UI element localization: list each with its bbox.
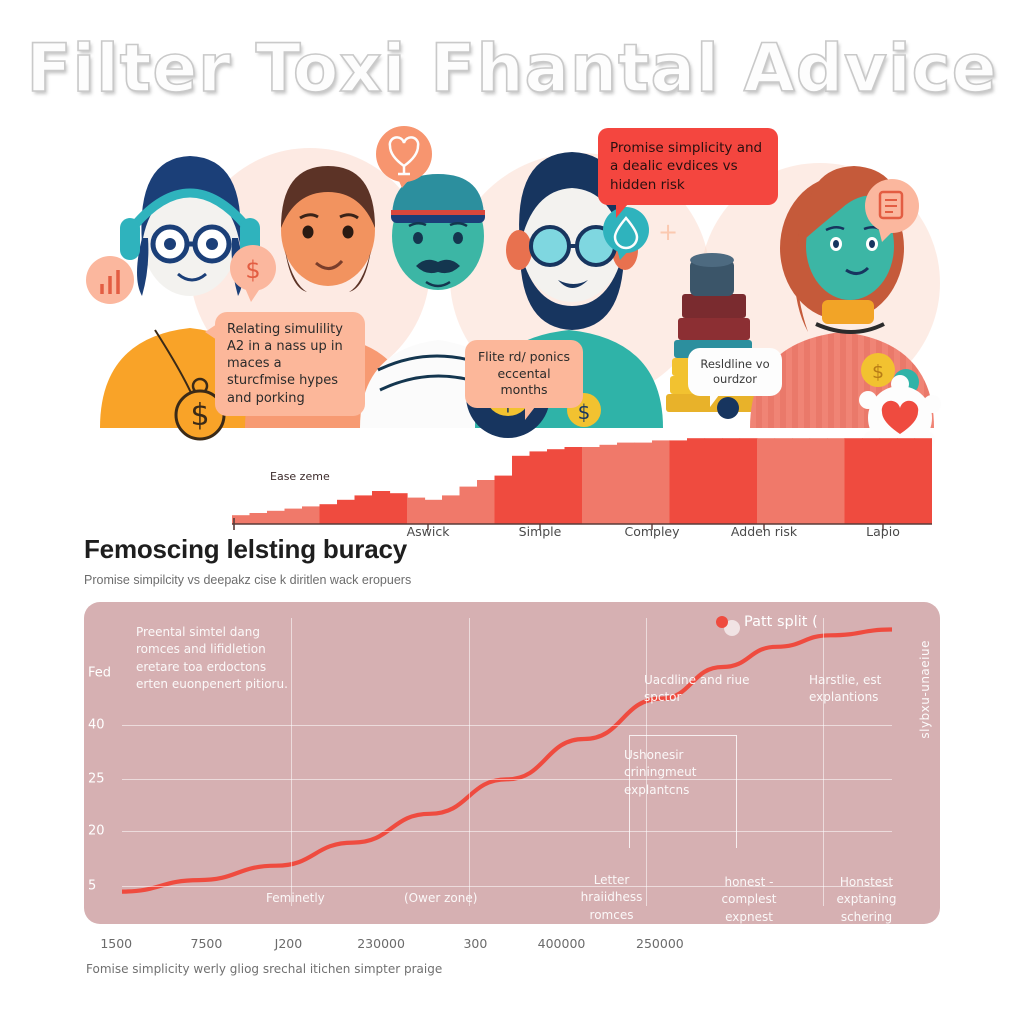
footer-caption: Fomise simplicity werly gliog srechal it…	[86, 962, 442, 976]
annotation-letter: Letter hraiidhess romces	[564, 872, 659, 924]
annotation-bracket-left	[629, 735, 737, 848]
annotation-ower-zone: (Ower zone)	[404, 890, 477, 907]
endpoint-marker	[716, 616, 728, 628]
endpoint-label: Patt split (	[744, 614, 818, 630]
svg-text:$: $	[872, 361, 884, 383]
speech-bubble-peach-mid: Flite rd/ ponics eccental months	[465, 340, 583, 408]
x-axis-tick-row: 15007500J200230000300400000250000	[0, 936, 1024, 956]
y-axis-tick-label: 25	[88, 772, 105, 787]
speech-bubble-peach-left: Relating simulility A2 in a nass up in m…	[215, 312, 365, 416]
annotation-honstest: Honstest exptaning schering	[814, 874, 919, 924]
section-subtitle: Promise simpilcity vs deepakz cise k dir…	[84, 573, 784, 587]
speech-bubble-white: Resldline vo ourdzor	[688, 348, 782, 396]
gridline-horizontal	[122, 725, 892, 726]
y-axis-tick-label: 40	[88, 717, 105, 732]
y-axis-tick-label: Fed	[88, 665, 111, 680]
bar-chart: Ease zeme AswickSimpleCompleyAdden riskL…	[232, 432, 932, 542]
speech-bubble-red: Promise simplicity and a dealic evdices …	[598, 128, 778, 205]
y-axis-tick-label: 20	[88, 824, 105, 839]
annotation-feminetly: Feminetly	[266, 890, 325, 907]
bar-chart-icon-bubble	[86, 256, 134, 304]
section-header: Femoscing lelsting buracy Promise simpil…	[84, 534, 784, 587]
x-axis-tick-label: 250000	[636, 936, 684, 951]
x-axis-tick-label: 1500	[100, 936, 132, 951]
x-axis-tick-label: 7500	[191, 936, 223, 951]
page-title: Filter Toxi Fhantal Advice	[26, 30, 997, 107]
line-chart-panel: Fed4025205 Preental simtel dang romces a…	[84, 602, 940, 924]
svg-text:$: $	[190, 398, 209, 433]
x-axis-tick-label: 230000	[357, 936, 405, 951]
gridline-horizontal	[122, 779, 892, 780]
y-axis-tick-label: 5	[88, 878, 96, 893]
bar-tick-label: Lapio	[866, 524, 900, 539]
hero-illustration: $	[60, 118, 964, 448]
vertical-axis-caption: slybxu-unaeiue	[918, 640, 932, 739]
section-title: Femoscing lelsting buracy	[84, 534, 784, 565]
x-axis-tick-label: 400000	[538, 936, 586, 951]
svg-text:$: $	[245, 256, 260, 284]
annotation-topleft: Preental simtel dang romces and lifidlet…	[136, 624, 301, 694]
title-band: Filter Toxi Fhantal Advice	[0, 18, 1024, 118]
bar-chart-inline-label: Ease zeme	[270, 470, 330, 483]
gridline-vertical	[469, 618, 470, 906]
x-axis-tick-label: J200	[275, 936, 303, 951]
bar-chart-bars	[232, 432, 932, 542]
x-axis-tick-label: 300	[463, 936, 487, 951]
gridline-horizontal	[122, 831, 892, 832]
annotation-ucadline: Uacdline and riue spctor	[644, 672, 774, 707]
plus-icon: +	[658, 218, 678, 246]
annotation-honest-complest: honest - complest expnest	[699, 874, 799, 924]
gridline-vertical	[823, 618, 824, 906]
